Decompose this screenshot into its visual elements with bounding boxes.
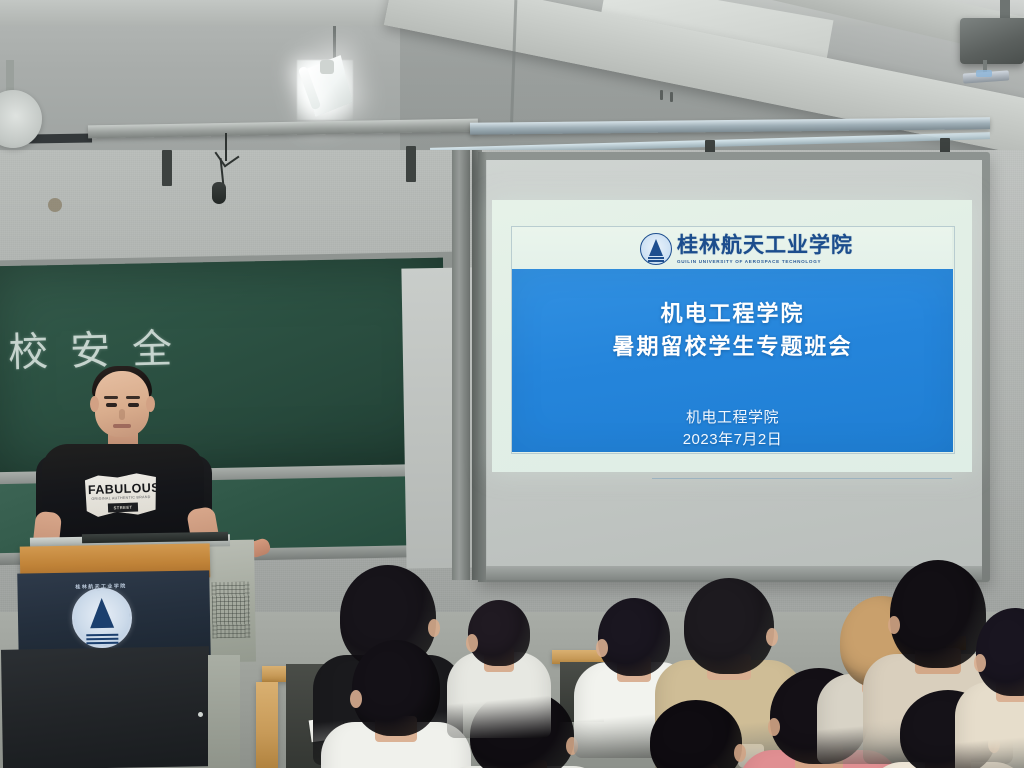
rail-bracket: [162, 150, 172, 186]
university-emblem-icon: [640, 233, 672, 265]
slide-title: 机电工程学院 暑期留校学生专题班会: [512, 297, 953, 363]
wall-dark-strip: [28, 133, 92, 143]
lamp-mount-head: [320, 60, 334, 74]
slide-subtitle: 机电工程学院 2023年7月2日: [512, 407, 953, 451]
rail-bracket: [406, 146, 416, 182]
ceiling-projector-icon: [960, 18, 1024, 64]
presenter-mouth: [113, 424, 131, 428]
slide-bottom-rule: [652, 478, 952, 479]
presenter-ear-right: [146, 396, 155, 412]
audience-ear: [974, 654, 986, 672]
audience-head: [468, 600, 530, 666]
audience-ear: [766, 628, 778, 646]
university-name-cn: 桂林航天工业学院: [677, 235, 853, 256]
university-name-en: GUILIN UNIVERSITY OF AEROSPACE TECHNOLOG…: [677, 259, 853, 264]
whiteboard-left-edge: [478, 152, 487, 582]
board-divider-post: [452, 150, 470, 580]
tshirt-badge: STREET: [108, 502, 138, 512]
presenter-ear-left: [90, 396, 99, 412]
slide-title-line-1: 机电工程学院: [512, 297, 953, 330]
classroom-photo-scene: 校安全 桂林航天工业学院 GUILIN UNIVERSITY OF AEROSP…: [0, 0, 1024, 768]
audience-head: [352, 640, 440, 736]
presenter-brow-right: [126, 396, 140, 399]
tshirt-badge-text: STREET: [108, 502, 138, 512]
podium-pillar: [208, 655, 240, 768]
podium-knob: [198, 712, 203, 717]
presenter-eye-left: [106, 403, 117, 407]
audience-ear: [428, 619, 440, 637]
hanging-microphone-icon: [212, 182, 226, 204]
slide-subtitle-line-2: 2023年7月2日: [512, 429, 953, 451]
audience-head: [598, 598, 670, 676]
slide-title-line-2: 暑期留校学生专题班会: [512, 330, 953, 363]
desk: [256, 682, 278, 768]
audience-ear: [350, 690, 362, 708]
audience-ear: [734, 744, 746, 762]
projector-lens-icon: [976, 70, 992, 77]
ceiling-bolt: [660, 90, 663, 100]
wall-mark: [48, 198, 62, 212]
university-logo-text: 桂林航天工业学院 GUILIN UNIVERSITY OF AEROSPACE …: [677, 235, 853, 264]
audience-head: [890, 560, 986, 668]
presenter-nose: [119, 409, 125, 420]
audience-ear: [596, 639, 608, 657]
slide-subtitle-line-1: 机电工程学院: [512, 407, 953, 429]
audience-ear: [768, 718, 780, 736]
podium-speaker-grille: [212, 582, 251, 639]
podium-base: [1, 646, 211, 768]
presenter-brow-left: [104, 396, 118, 399]
university-logo: 桂林航天工业学院 GUILIN UNIVERSITY OF AEROSPACE …: [640, 230, 860, 268]
presenter-eye-right: [128, 403, 139, 407]
chalkboard-text: 校安全: [7, 316, 194, 379]
ceiling-bolt: [670, 92, 673, 102]
audience-head: [684, 578, 774, 674]
